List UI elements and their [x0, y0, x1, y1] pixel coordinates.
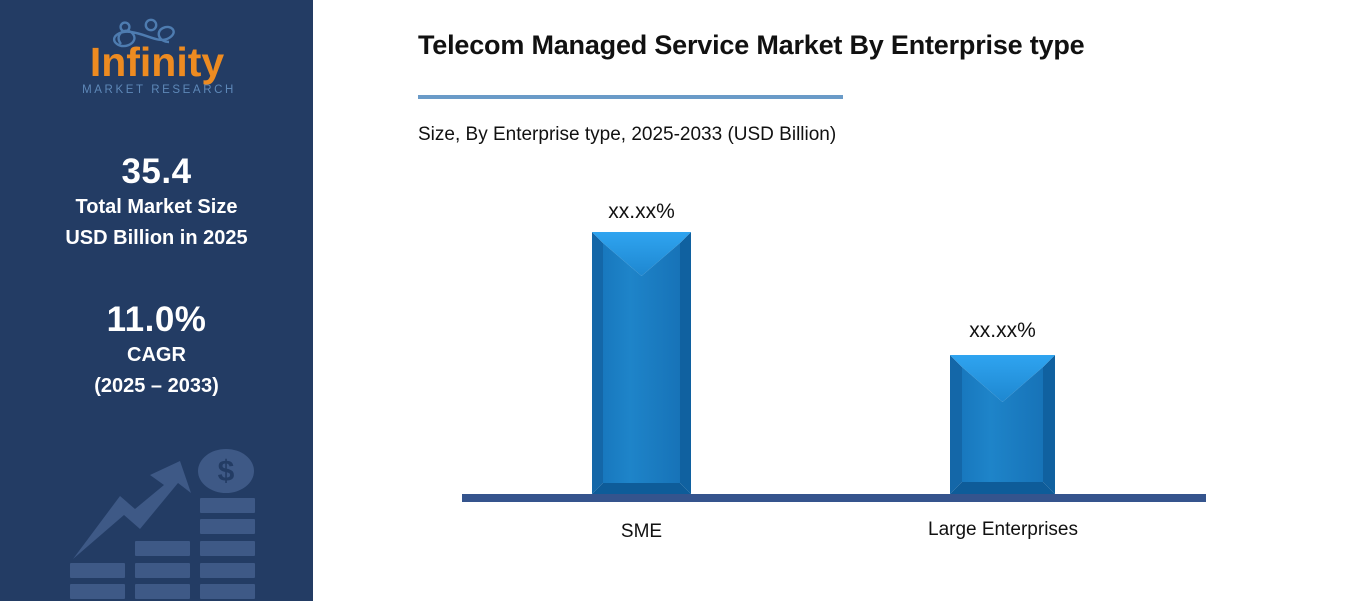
bar-sme[interactable] — [592, 232, 691, 494]
stat-caption-line1: Total Market Size — [0, 192, 313, 223]
bar-chart: xx.xx% — [313, 0, 1359, 601]
stat-value: 11.0% — [0, 300, 313, 340]
main-panel: Telecom Managed Service Market By Enterp… — [313, 0, 1359, 601]
category-label-sme: SME — [542, 521, 741, 543]
chart-baseline-axis — [462, 494, 1206, 502]
stat-caption-line2: USD Billion in 2025 — [0, 223, 313, 254]
bar-value-label: xx.xx% — [903, 319, 1102, 343]
category-label-large-enterprises: Large Enterprises — [878, 519, 1128, 541]
infographic-canvas: Infinity MARKET RESEARCH 35.4 Total Mark… — [0, 0, 1359, 601]
growth-arrow-coins-icon: $ — [28, 441, 298, 601]
stat-total-market-size: 35.4 Total Market Size USD Billion in 20… — [0, 152, 313, 254]
stat-cagr: 11.0% CAGR (2025 – 2033) — [0, 300, 313, 402]
brand-logo: Infinity MARKET RESEARCH — [0, 18, 313, 102]
bar-value-label: xx.xx% — [542, 200, 741, 224]
stat-caption-line2: (2025 – 2033) — [0, 371, 313, 402]
sidebar: Infinity MARKET RESEARCH 35.4 Total Mark… — [0, 0, 313, 601]
bar-large-enterprises[interactable] — [950, 355, 1055, 494]
infinity-swirl-icon: Infinity MARKET RESEARCH — [47, 18, 267, 102]
stat-caption-line1: CAGR — [0, 340, 313, 371]
dollar-symbol: $ — [218, 455, 235, 488]
stat-value: 35.4 — [0, 152, 313, 192]
logo-tagline: MARKET RESEARCH — [82, 84, 236, 96]
logo-name: Infinity — [89, 39, 224, 85]
